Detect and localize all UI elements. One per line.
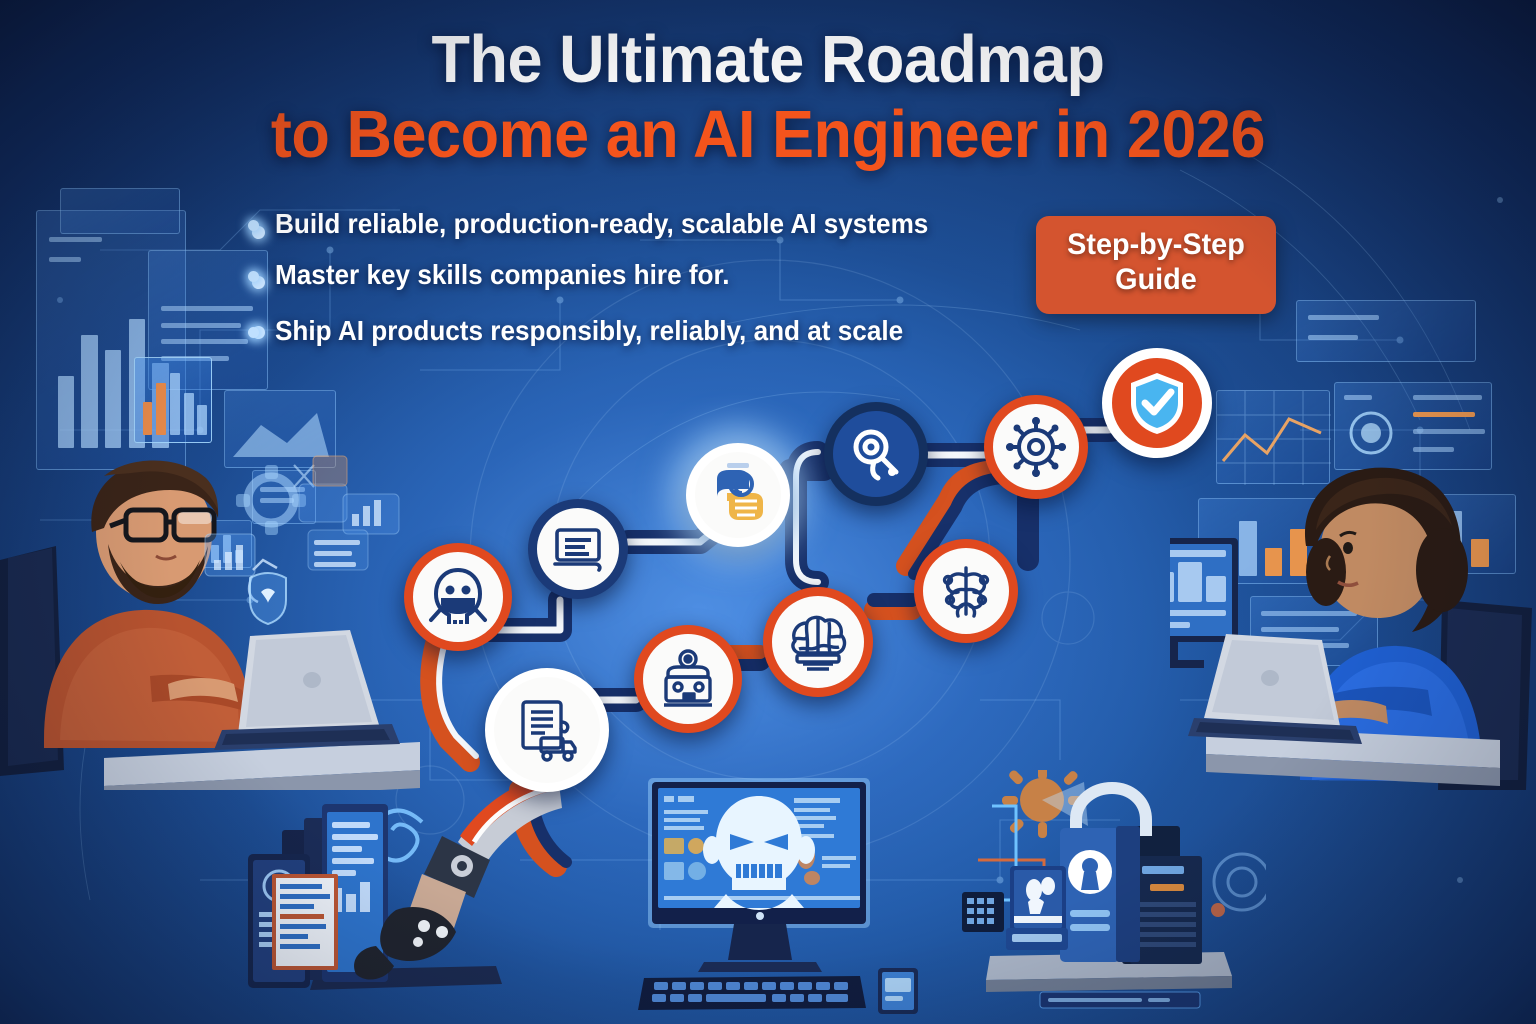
document-truck-icon [511,694,583,766]
roadmap-node-documentation[interactable] [528,499,628,599]
badge-line-1: Step-by-Step [1050,228,1261,263]
infographic-poster: The Ultimate Roadmap to Become an AI Eng… [0,0,1536,1024]
benefit-bullet-list: Build reliable, production-ready, scalab… [248,208,1038,366]
magnifier-icon [844,422,908,486]
shield-check-icon [1126,370,1188,436]
bullet-text: Build reliable, production-ready, scalab… [275,208,928,239]
roadmap-node-deployment[interactable] [485,668,609,792]
list-item: Build reliable, production-ready, scalab… [248,208,1038,239]
document-screen-icon [549,520,607,578]
roadmap-node-neural-net[interactable] [914,539,1018,643]
roadmap-node-python[interactable] [686,443,790,547]
bullet-dot-icon [248,271,259,282]
python-logo-icon [703,463,773,527]
bullet-dot-icon [248,220,259,231]
poster-heading: The Ultimate Roadmap to Become an AI Eng… [0,26,1536,168]
roadmap-node-media-camera[interactable] [634,625,742,733]
bullet-dot-icon [248,327,259,338]
list-item: Master key skills companies hire for. [248,259,1038,290]
roadmap-node-bot-face[interactable] [404,543,512,651]
bullet-text: Ship AI products responsibly, reliably, … [275,315,903,346]
media-camera-icon [656,649,720,709]
title-line-2: to Become an AI Engineer in 2026 [46,101,1490,168]
neural-tree-icon [936,560,996,622]
roadmap-node-security-shield[interactable] [1102,348,1212,458]
heart-shield-holo-icon [250,573,286,624]
brain-chip-icon [785,611,851,673]
badge-line-2: Guide [1050,263,1261,298]
gear-network-icon [1004,415,1068,479]
bullet-text: Master key skills companies hire for. [275,259,730,290]
title-line-1: The Ultimate Roadmap [46,26,1490,93]
step-by-step-guide-badge[interactable]: Step-by-Step Guide [1036,216,1276,314]
list-item: Ship AI products responsibly, reliably, … [248,315,1038,346]
robot-face-icon [427,566,489,628]
roadmap-node-brain[interactable] [763,587,873,697]
roadmap-node-mlops-gear[interactable] [984,395,1088,499]
roadmap-node-search[interactable] [824,402,928,506]
